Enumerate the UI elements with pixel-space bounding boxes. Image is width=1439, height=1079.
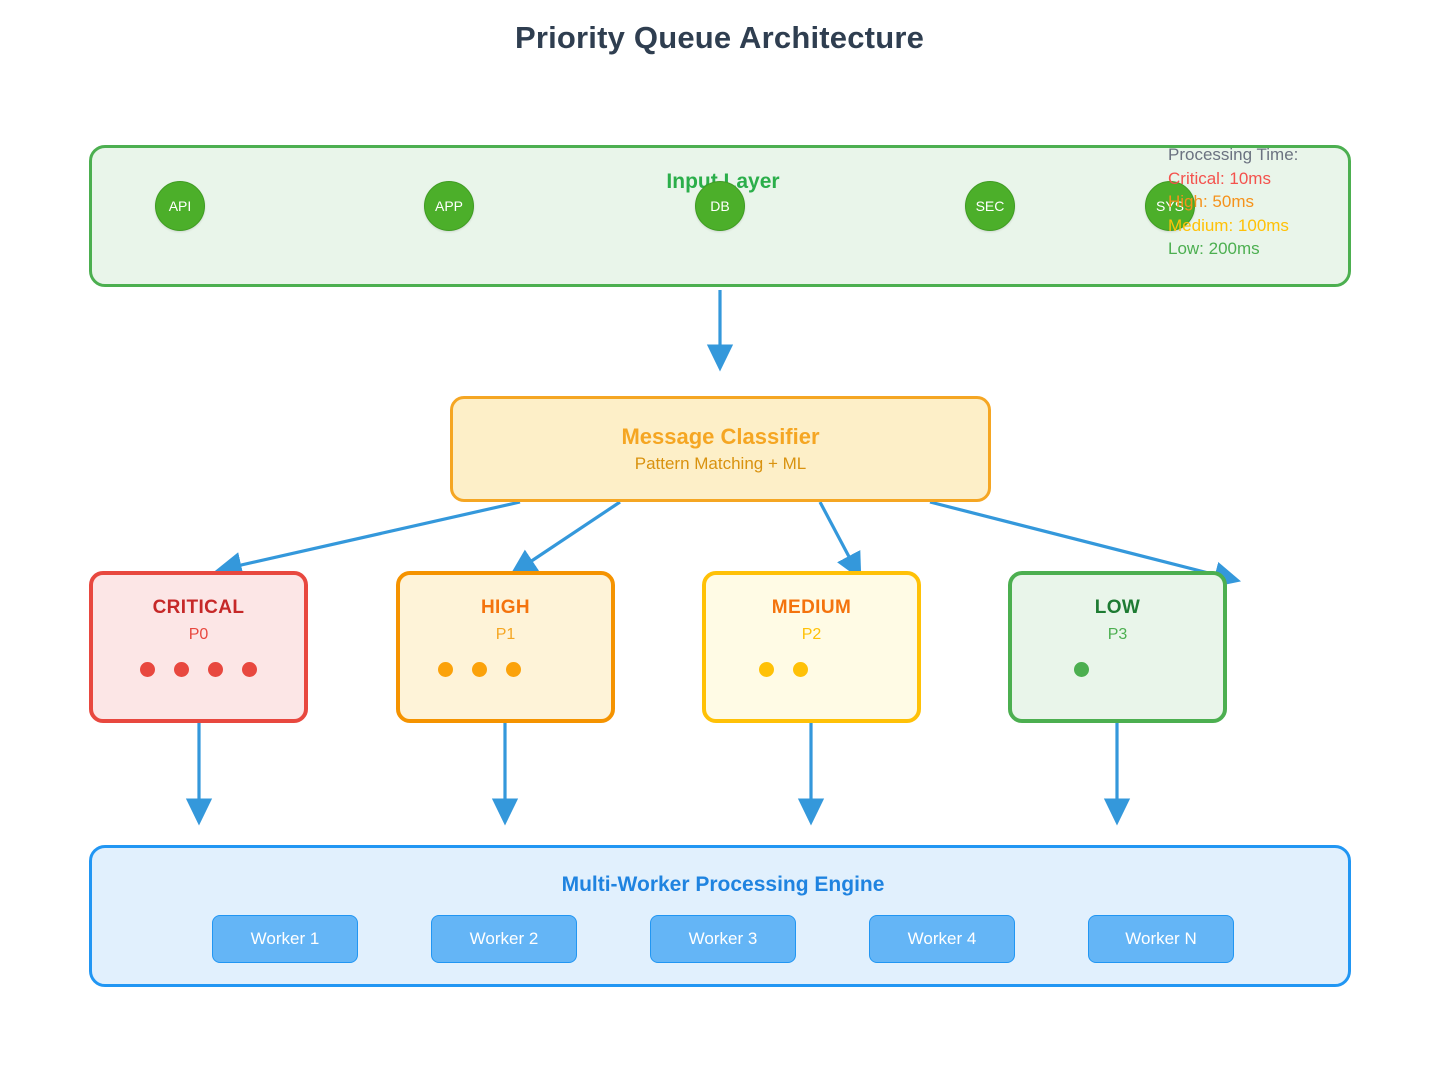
queue-message-dots [93,662,304,677]
queue-message-dot [1074,662,1089,677]
input-source-node-db[interactable]: DB [695,181,745,231]
legend-title: Processing Time: [1168,143,1368,167]
queue-name-label: HIGH [400,597,611,619]
input-source-node-sec[interactable]: SEC [965,181,1015,231]
queue-message-dot [140,662,155,677]
priority-queue-low[interactable]: LOWP3 [1008,571,1227,723]
classifier-subtitle: Pattern Matching + ML [635,454,807,474]
queue-message-dot [759,662,774,677]
legend-row-group: Critical: 10msHigh: 50msMedium: 100msLow… [1168,167,1368,261]
message-classifier-node[interactable]: Message Classifier Pattern Matching + ML [450,396,991,502]
arrow-classifier-to-queue-4 [930,502,1228,578]
priority-queue-medium[interactable]: MEDIUMP2 [702,571,921,723]
page-title: Priority Queue Architecture [0,20,1439,56]
legend-row-low: Low: 200ms [1168,237,1368,261]
input-source-node-api[interactable]: API [155,181,205,231]
priority-queue-high[interactable]: HIGHP1 [396,571,615,723]
queue-message-dot [174,662,189,677]
processing-engine-panel: Multi-Worker Processing Engine Worker 1W… [89,845,1351,987]
queue-message-dot [793,662,808,677]
arrow-classifier-to-queue-1 [228,502,520,568]
engine-title: Multi-Worker Processing Engine [92,873,1354,897]
worker-chip-2[interactable]: Worker 2 [431,915,577,963]
input-source-node-app[interactable]: APP [424,181,474,231]
queue-name-label: CRITICAL [93,597,304,619]
queue-message-dot [438,662,453,677]
worker-chip-3[interactable]: Worker 3 [650,915,796,963]
queue-level-label: P1 [400,626,611,644]
legend-row-medium: Medium: 100ms [1168,214,1368,238]
legend-row-critical: Critical: 10ms [1168,167,1368,191]
queue-level-label: P0 [93,626,304,644]
queue-message-dot [472,662,487,677]
worker-chip-1[interactable]: Worker 1 [212,915,358,963]
queue-level-label: P3 [1012,626,1223,644]
queue-message-dot [506,662,521,677]
queue-name-label: LOW [1012,597,1223,619]
arrow-classifier-to-queue-3 [820,502,855,568]
worker-chip-4[interactable]: Worker 4 [869,915,1015,963]
queue-message-dot [242,662,257,677]
arrow-classifier-to-queue-2 [521,502,620,568]
priority-queue-critical[interactable]: CRITICALP0 [89,571,308,723]
queue-level-label: P2 [706,626,917,644]
queue-message-dot [208,662,223,677]
classifier-title: Message Classifier [621,424,819,450]
queue-message-dots [1012,662,1223,677]
worker-chip-5[interactable]: Worker N [1088,915,1234,963]
queue-message-dots [706,662,917,677]
queue-name-label: MEDIUM [706,597,917,619]
processing-time-legend: Processing Time: Critical: 10msHigh: 50m… [1168,143,1368,261]
queue-message-dots [400,662,611,677]
input-layer-panel: Input Layer APIAPPDBSECSYS [89,145,1351,287]
legend-row-high: High: 50ms [1168,190,1368,214]
worker-chip-group: Worker 1Worker 2Worker 3Worker 4Worker N [92,915,1354,963]
